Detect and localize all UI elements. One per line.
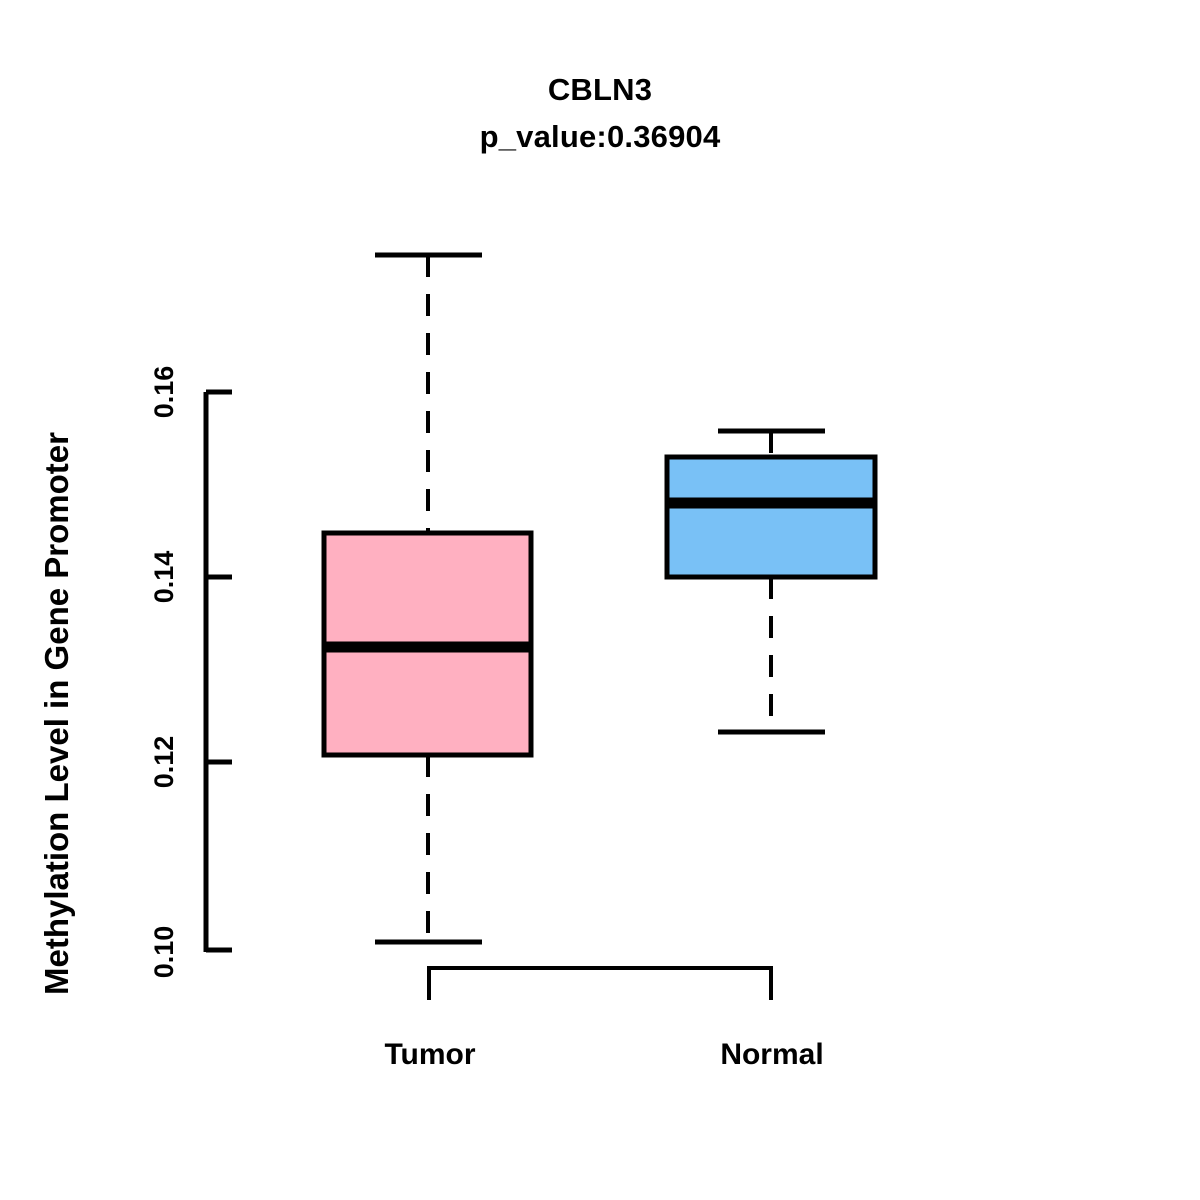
y-axis <box>206 392 232 952</box>
box-tumor <box>322 255 533 942</box>
boxplot-figure: CBLN3 p_value:0.36904 Methylation Level … <box>0 0 1200 1200</box>
box-normal <box>665 431 877 732</box>
box-rect-normal <box>667 457 875 577</box>
x-axis <box>427 968 773 1000</box>
plot-canvas <box>0 0 1200 1200</box>
